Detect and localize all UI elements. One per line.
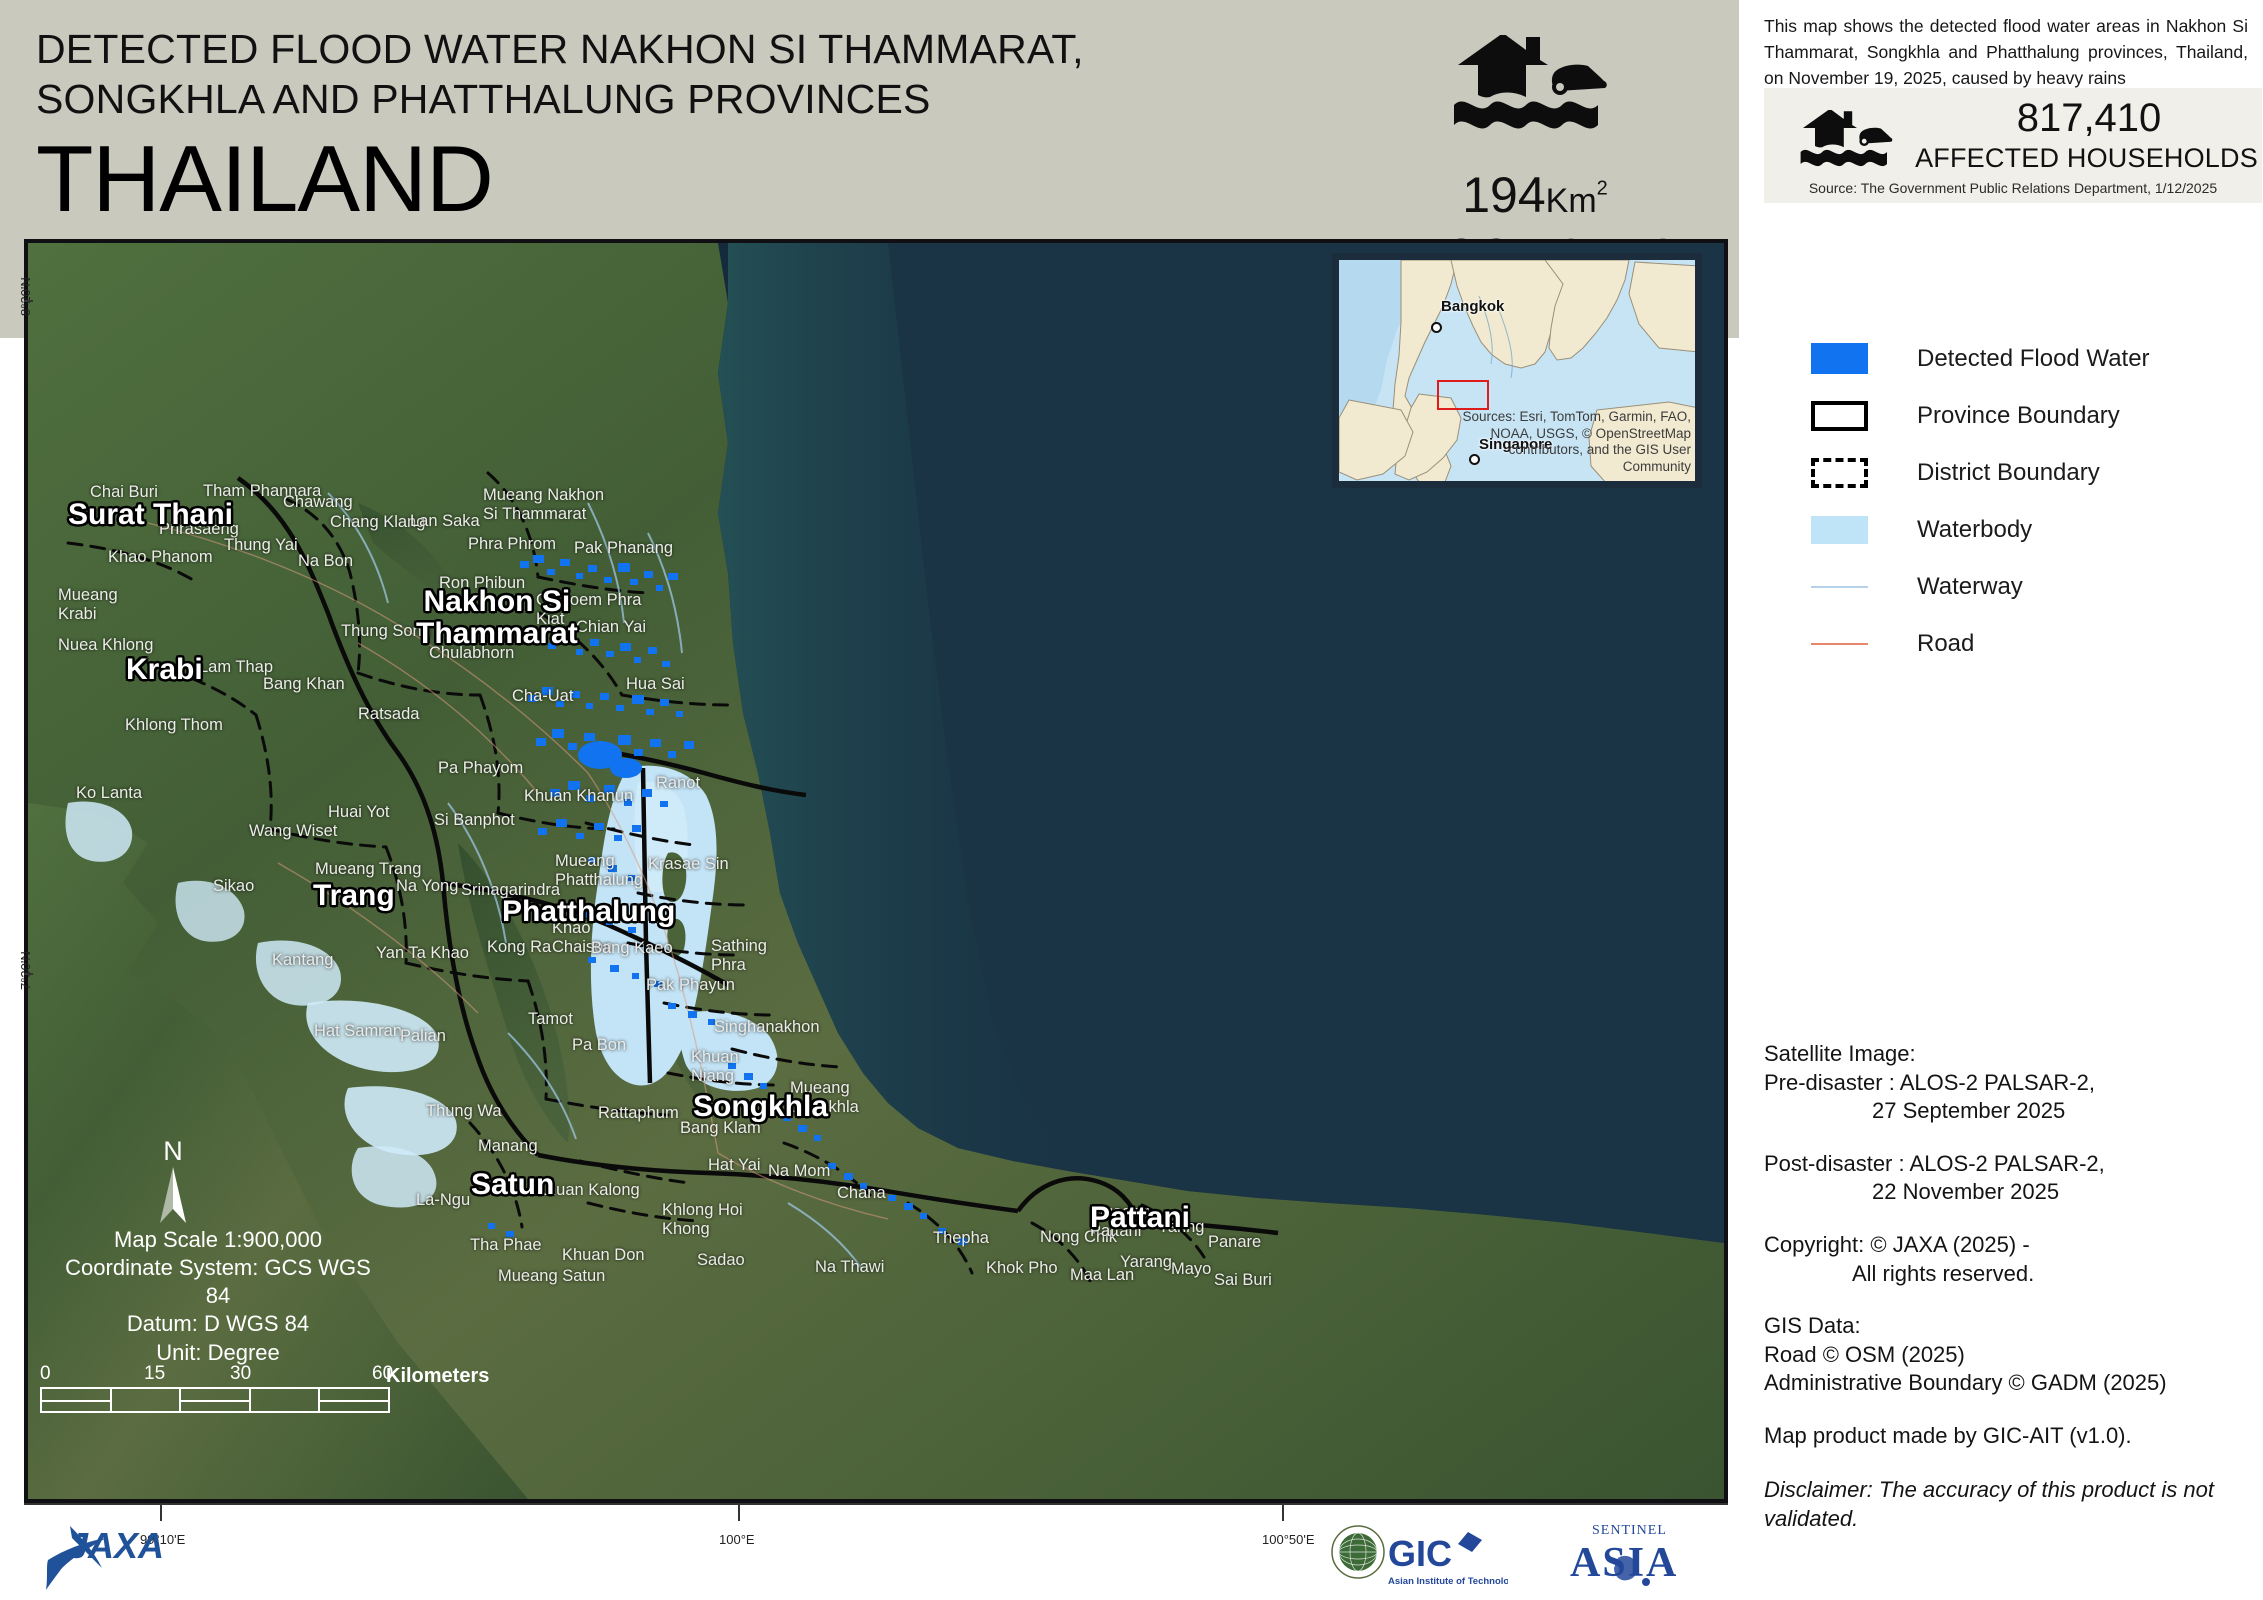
title-line-1: DETECTED FLOOD WATER NAKHON SI THAMMARAT… bbox=[36, 24, 1316, 74]
post-disaster-row: Post-disaster : ALOS-2 PALSAR-2, bbox=[1764, 1150, 2254, 1179]
lat-label-7-30: 7°30'N bbox=[18, 951, 33, 990]
inset-sources-text: Sources: Esri, TomTom, Garmin, FAO, NOAA… bbox=[1441, 409, 1691, 475]
scale-tick-15: 15 bbox=[144, 1363, 165, 1385]
legend-label-district-boundary: District Boundary bbox=[1917, 459, 2100, 487]
lon-tick-3 bbox=[1282, 1503, 1284, 1521]
metadata-block: Satellite Image: Pre-disaster : ALOS-2 P… bbox=[1764, 1040, 2254, 1533]
legend-item-road: Road bbox=[1799, 615, 2249, 672]
legend-item-district-boundary: District Boundary bbox=[1799, 444, 2249, 501]
flooded-house-car-icon bbox=[1345, 30, 1725, 160]
scale-seg-5 bbox=[320, 1389, 388, 1411]
lon-tick-2 bbox=[738, 1503, 740, 1521]
svg-text:JAXA: JAXA bbox=[68, 1525, 164, 1566]
map-legend: Detected Flood Water Province Boundary D… bbox=[1799, 330, 2249, 672]
gic-subtitle: Asian Institute of Technology bbox=[1388, 1576, 1508, 1587]
scale-unit-label: Kilometers bbox=[386, 1365, 489, 1388]
map-scale-info: Map Scale 1:900,000 Coordinate System: G… bbox=[58, 1226, 378, 1367]
disclaimer-text: Disclaimer: The accuracy of this product… bbox=[1764, 1475, 2254, 1533]
flood-area-value: 194Km2 bbox=[1345, 166, 1725, 224]
main-map[interactable]: Chai BuriTham PhannaraChawangChang Klang… bbox=[24, 239, 1728, 1503]
lon-label-100-50: 100°50'E bbox=[1262, 1532, 1315, 1547]
legend-symbol-waterbody bbox=[1799, 516, 1917, 544]
copyright-line-1: Copyright: © JAXA (2025) - bbox=[1764, 1231, 2254, 1260]
pre-disaster-label: Pre-disaster bbox=[1764, 1070, 1883, 1095]
pre-disaster-value: : ALOS-2 PALSAR-2, bbox=[1889, 1070, 2095, 1095]
scale-tick-0: 0 bbox=[40, 1363, 51, 1385]
legend-label-waterway: Waterway bbox=[1917, 573, 2023, 601]
country-title: THAILAND bbox=[36, 132, 1316, 226]
legend-symbol-province-boundary bbox=[1799, 401, 1917, 431]
legend-label-flood-water: Detected Flood Water bbox=[1917, 345, 2150, 373]
scale-seg-2 bbox=[112, 1389, 182, 1411]
legend-item-detected-flood-water: Detected Flood Water bbox=[1799, 330, 2249, 387]
gis-line-2: Administrative Boundary © GADM (2025) bbox=[1764, 1369, 2254, 1398]
flood-area-number: 194 bbox=[1462, 167, 1545, 223]
legend-item-waterway: Waterway bbox=[1799, 558, 2249, 615]
affected-households-count: 817,410 bbox=[1924, 96, 2254, 141]
satellite-image-meta: Satellite Image: Pre-disaster : ALOS-2 P… bbox=[1764, 1040, 2254, 1126]
north-arrow: N bbox=[153, 1138, 193, 1232]
scale-bar-ticks: 0 15 30 60 bbox=[40, 1363, 440, 1387]
sentinel-asia-logo: SENTINEL ASIA bbox=[1558, 1518, 1698, 1590]
flooded-house-car-icon bbox=[1797, 110, 1902, 182]
post-disaster-meta: Post-disaster : ALOS-2 PALSAR-2, 22 Nove… bbox=[1764, 1150, 2254, 1207]
legend-label-road: Road bbox=[1917, 630, 1974, 658]
bottom-axis-line bbox=[24, 1503, 1728, 1505]
scale-seg-1 bbox=[42, 1389, 112, 1411]
post-disaster-value: : ALOS-2 PALSAR-2, bbox=[1899, 1151, 2105, 1176]
map-scale: Map Scale 1:900,000 bbox=[58, 1226, 378, 1254]
legend-symbol-waterway bbox=[1799, 586, 1917, 588]
post-disaster-label: Post-disaster bbox=[1764, 1151, 1892, 1176]
affected-households-card: 817,410 AFFECTED HOUSEHOLDS Source: The … bbox=[1764, 88, 2262, 203]
map-canvas[interactable]: Chai BuriTham PhannaraChawangChang Klang… bbox=[28, 243, 1724, 1499]
jaxa-logo: JAXA bbox=[40, 1512, 190, 1592]
legend-symbol-district-boundary bbox=[1799, 458, 1917, 488]
title-line-2: SONGKHLA AND PHATTHALUNG PROVINCES bbox=[36, 74, 1316, 124]
gis-heading: GIS Data: bbox=[1764, 1312, 2254, 1341]
legend-item-province-boundary: Province Boundary bbox=[1799, 387, 2249, 444]
legend-symbol-flood-water bbox=[1799, 343, 1917, 374]
map-description: This map shows the detected flood water … bbox=[1764, 14, 2248, 92]
lon-label-100: 100°E bbox=[719, 1532, 755, 1547]
scale-bar: 0 15 30 60 bbox=[40, 1363, 440, 1413]
gis-data-meta: GIS Data: Road © OSM (2025) Administrati… bbox=[1764, 1312, 2254, 1398]
legend-label-province-boundary: Province Boundary bbox=[1917, 402, 2120, 430]
copyright-line-2: All rights reserved. bbox=[1764, 1260, 2254, 1289]
gic-logo: GIC Asian Institute of Technology bbox=[1328, 1518, 1508, 1590]
flood-area-unit: Km bbox=[1546, 182, 1597, 220]
lat-tick-1 bbox=[24, 300, 33, 302]
legend-label-waterbody: Waterbody bbox=[1917, 516, 2032, 544]
legend-symbol-road bbox=[1799, 643, 1917, 645]
affected-households-label: AFFECTED HOUSEHOLDS bbox=[1914, 143, 2259, 174]
area-of-interest-box bbox=[1437, 380, 1489, 410]
satellite-heading: Satellite Image: bbox=[1764, 1040, 2254, 1069]
pre-disaster-date: 27 September 2025 bbox=[1764, 1097, 2254, 1126]
post-disaster-date: 22 November 2025 bbox=[1764, 1178, 2254, 1207]
north-letter: N bbox=[153, 1138, 193, 1165]
gis-line-1: Road © OSM (2025) bbox=[1764, 1341, 2254, 1370]
scale-tick-30: 30 bbox=[230, 1363, 251, 1385]
bangkok-label: Bangkok bbox=[1441, 298, 1504, 315]
svg-text:SENTINEL: SENTINEL bbox=[1592, 1523, 1667, 1538]
lat-tick-2 bbox=[24, 973, 33, 975]
flood-area-unit-exp: 2 bbox=[1597, 177, 1608, 199]
right-info-panel: This map shows the detected flood water … bbox=[1739, 0, 2263, 1600]
bangkok-dot bbox=[1431, 322, 1442, 333]
legend-item-waterbody: Waterbody bbox=[1799, 501, 2249, 558]
svg-text:GIC: GIC bbox=[1388, 1533, 1452, 1574]
coordinate-system: Coordinate System: GCS WGS 84 bbox=[58, 1254, 378, 1310]
scale-seg-3 bbox=[181, 1389, 251, 1411]
inset-overview-map[interactable]: Bangkok Singapore Sources: Esri, TomTom,… bbox=[1332, 253, 1702, 488]
scale-bar-graphic bbox=[40, 1387, 390, 1413]
product-meta: Map product made by GIC-AIT (v1.0). bbox=[1764, 1422, 2254, 1451]
affected-households-source: Source: The Government Public Relations … bbox=[1764, 180, 2262, 196]
copyright-meta: Copyright: © JAXA (2025) - All rights re… bbox=[1764, 1231, 2254, 1288]
scale-seg-4 bbox=[251, 1389, 321, 1411]
datum: Datum: D WGS 84 bbox=[58, 1310, 378, 1338]
pre-disaster-row: Pre-disaster : ALOS-2 PALSAR-2, bbox=[1764, 1069, 2254, 1098]
lat-label-8-20: 8°20'N bbox=[18, 277, 33, 316]
